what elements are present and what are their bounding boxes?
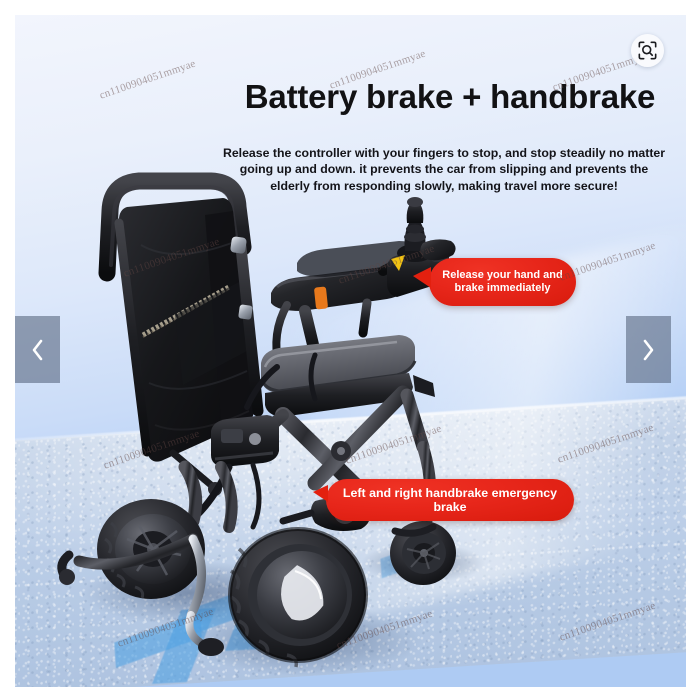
scan-zoom-icon xyxy=(638,41,657,60)
product-image-viewer: Battery brake + handbrake Release the co… xyxy=(0,0,700,700)
callout-release-hand-label: Release your hand and brake immediately xyxy=(429,269,576,296)
chevron-left-icon xyxy=(31,339,44,361)
callout-handbrake: Left and right handbrake emergency brake xyxy=(326,479,574,521)
carousel-next-button[interactable] xyxy=(626,316,671,383)
callout-pointer-icon xyxy=(313,485,328,502)
carousel-prev-button[interactable] xyxy=(15,316,60,383)
chevron-right-icon xyxy=(642,339,655,361)
page-title: Battery brake + handbrake xyxy=(215,79,685,116)
callout-release-hand: Release your hand and brake immediately xyxy=(429,258,576,306)
page-subtitle: Release the controller with your fingers… xyxy=(220,145,668,194)
product-photo-stage[interactable]: Battery brake + handbrake Release the co… xyxy=(15,15,686,687)
zoom-image-button[interactable] xyxy=(631,34,664,67)
callout-handbrake-label: Left and right handbrake emergency brake xyxy=(326,486,574,514)
callout-pointer-icon xyxy=(413,267,431,288)
